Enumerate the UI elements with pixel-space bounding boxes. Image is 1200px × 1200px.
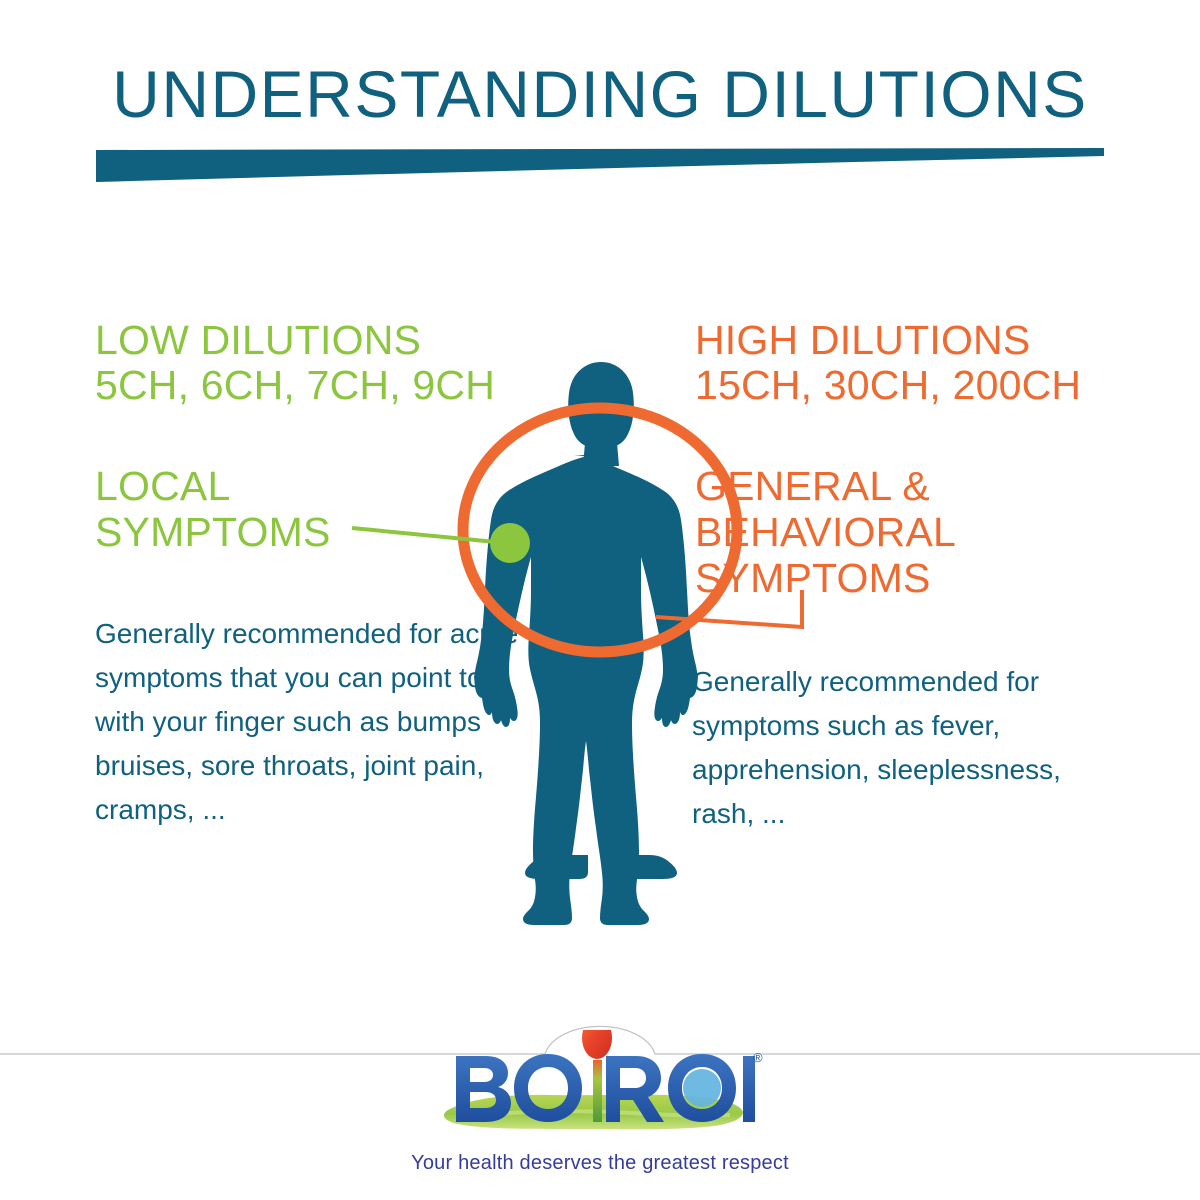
local-symptoms-line1: LOCAL — [95, 463, 331, 509]
boiron-logo-artwork: ® — [430, 1030, 770, 1150]
low-dilutions-heading: LOW DILUTIONS 5CH, 6CH, 7CH, 9CH — [95, 318, 495, 408]
infographic-page: UNDERSTANDING DILUTIONS LOW DILUTIONS 5C… — [0, 0, 1200, 1200]
general-behavioral-subheading: GENERAL & BEHAVIORAL SYMPTOMS — [695, 463, 956, 601]
local-symptoms-line2: SYMPTOMS — [95, 509, 331, 555]
high-dilutions-heading-line2: 15CH, 30CH, 200CH — [695, 363, 1081, 408]
brand-tagline: Your health deserves the greatest respec… — [0, 1150, 1200, 1176]
general-behavioral-description: Generally recommended for symptoms such … — [692, 660, 1112, 836]
general-behavioral-line3: SYMPTOMS — [695, 555, 956, 601]
local-symptoms-subheading: LOCAL SYMPTOMS — [95, 463, 331, 555]
high-dilutions-heading-line1: HIGH DILUTIONS — [695, 318, 1081, 363]
boiron-logo[interactable]: ® — [430, 1030, 770, 1150]
flower-bud-icon — [582, 1030, 612, 1059]
low-dilutions-heading-line2: 5CH, 6CH, 7CH, 9CH — [95, 363, 495, 408]
flower-stem-icon — [593, 1060, 602, 1122]
green-connector-line — [352, 528, 506, 543]
logo-blue-circle-icon — [683, 1069, 721, 1107]
general-behavioral-line2: BEHAVIORAL — [695, 509, 956, 555]
green-local-marker-dot — [490, 523, 530, 563]
registered-trademark-symbol: ® — [753, 1050, 763, 1065]
high-dilutions-heading: HIGH DILUTIONS 15CH, 30CH, 200CH — [695, 318, 1081, 408]
low-dilutions-heading-line1: LOW DILUTIONS — [95, 318, 495, 363]
local-symptoms-description: Generally recommended for acute symptoms… — [95, 612, 525, 832]
general-behavioral-line1: GENERAL & — [695, 463, 956, 509]
page-title: UNDERSTANDING DILUTIONS — [0, 58, 1200, 130]
title-underline-wedge — [96, 148, 1104, 188]
